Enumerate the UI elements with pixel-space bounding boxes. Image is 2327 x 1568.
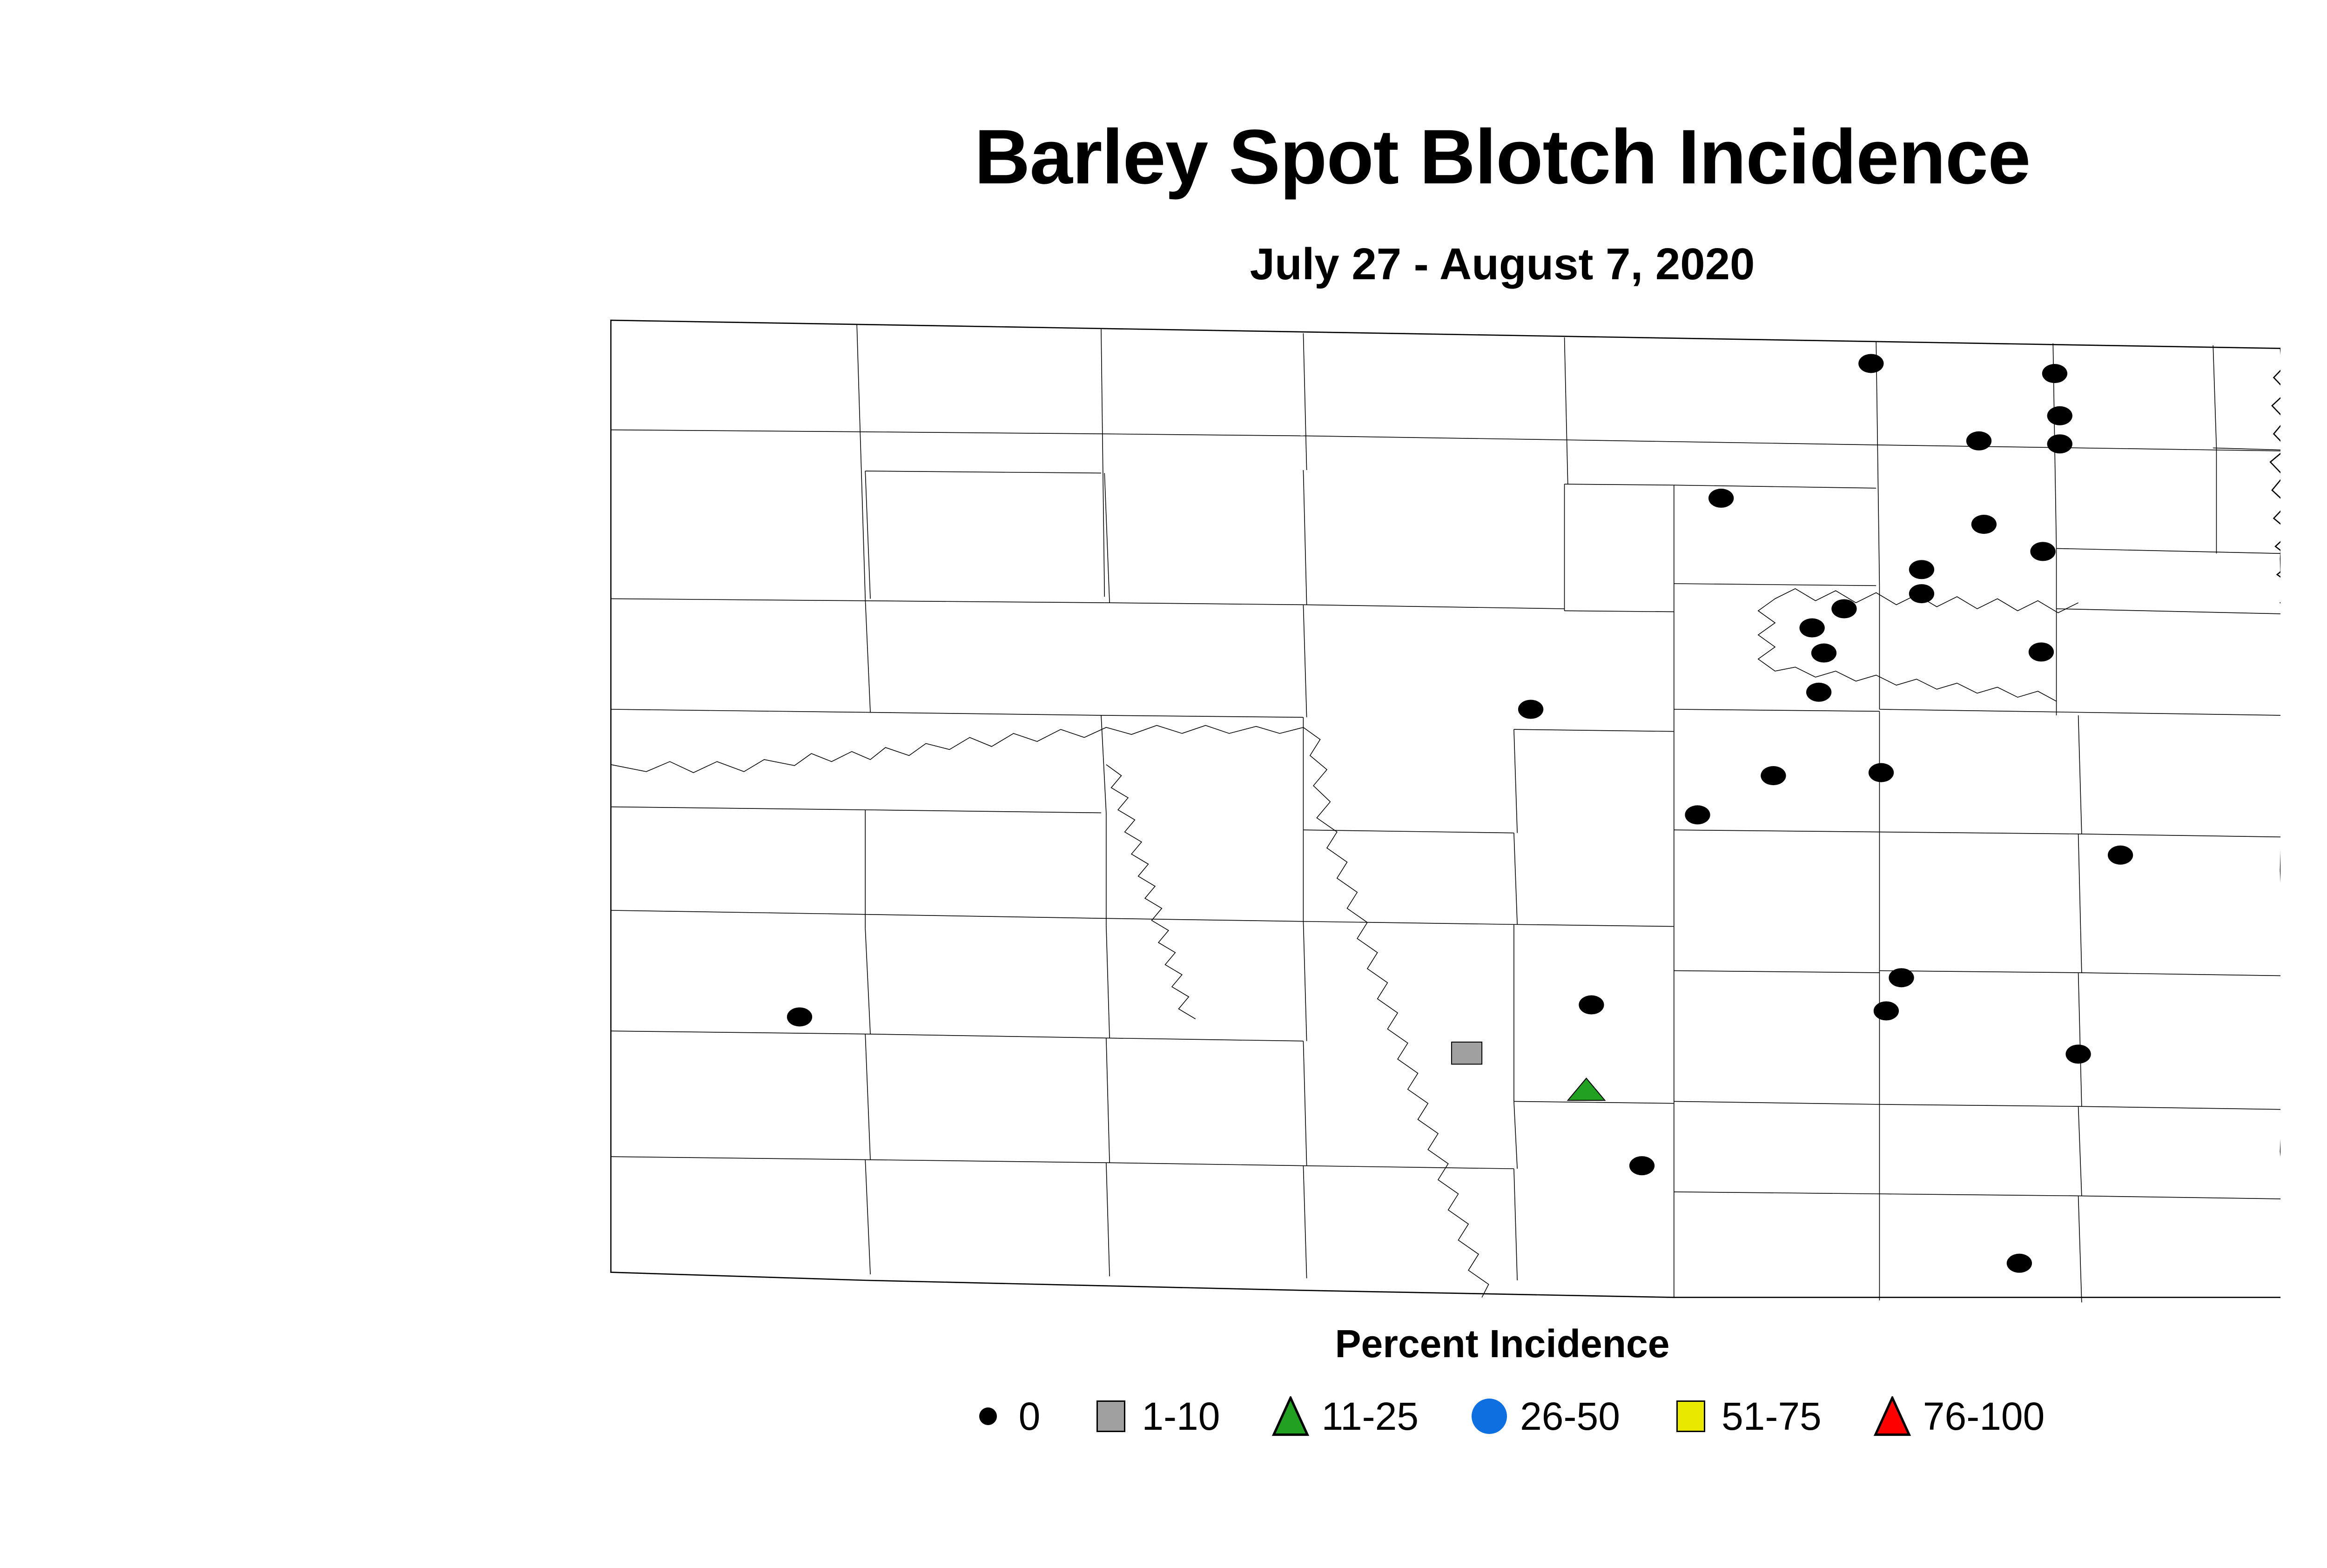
map-marker-0[interactable] — [1889, 968, 1914, 987]
map-marker-0[interactable] — [1685, 805, 1710, 824]
map-marker-0[interactable] — [1966, 431, 1991, 451]
legend-entry-26-50[interactable]: 26-50 — [1461, 1388, 1620, 1444]
map-marker-0[interactable] — [1874, 1001, 1899, 1020]
legend-entry-51-75[interactable]: 51-75 — [1663, 1388, 1822, 1444]
legend-title: Percent Incidence — [0, 1324, 2327, 1363]
map-marker-0[interactable] — [1708, 489, 1734, 508]
legend-symbol-dot — [960, 1388, 1016, 1444]
map-marker-0[interactable] — [1579, 996, 1604, 1015]
legend-dot-icon — [979, 1407, 997, 1425]
map-marker-0[interactable] — [1799, 619, 1824, 638]
map-marker-0[interactable] — [1971, 515, 1997, 534]
map-marker-0[interactable] — [2065, 1044, 2091, 1063]
map-marker-11-25[interactable] — [1568, 1078, 1605, 1101]
legend-triangle-icon — [1271, 1396, 1311, 1436]
legend-entry-0[interactable]: 0 — [960, 1388, 1041, 1444]
legend-label: 26-50 — [1520, 1397, 1620, 1436]
map-marker-0[interactable] — [2108, 846, 2133, 865]
map-marker-0[interactable] — [2007, 1254, 2032, 1273]
map-marker-0[interactable] — [1629, 1156, 1654, 1175]
map-marker-1-10[interactable] — [1452, 1042, 1482, 1064]
legend-label: 1-10 — [1142, 1397, 1220, 1436]
map-marker-0[interactable] — [2047, 434, 2072, 453]
map-svg — [596, 307, 2280, 1312]
map-marker-0[interactable] — [1909, 560, 1934, 579]
red-river-eastern-border — [2270, 349, 2280, 1298]
map-marker-0[interactable] — [1806, 683, 1831, 702]
legend-label: 0 — [1019, 1397, 1041, 1436]
legend-symbol-triangle — [1263, 1388, 1318, 1444]
legend-square-icon — [1096, 1400, 1125, 1432]
legend-triangle-icon — [1872, 1396, 1912, 1436]
map-legend: Percent Incidence 01-1011-2526-5051-7576… — [0, 1324, 2327, 1520]
legend-entry-1-10[interactable]: 1-10 — [1083, 1388, 1220, 1444]
missouri-river-and-lakes — [611, 589, 2078, 1298]
map-marker-0[interactable] — [1858, 354, 1883, 373]
figure-canvas: Barley Spot Blotch Incidence July 27 - A… — [0, 0, 2327, 1568]
map-marker-0[interactable] — [1869, 763, 1894, 782]
page-subtitle: July 27 - August 7, 2020 — [0, 242, 2327, 287]
legend-circle-icon — [1472, 1399, 1507, 1434]
map-marker-0[interactable] — [1761, 766, 1786, 785]
map-marker-0[interactable] — [2047, 406, 2072, 425]
map-marker-0[interactable] — [2029, 642, 2054, 661]
legend-label: 51-75 — [1722, 1397, 1822, 1436]
legend-items: 01-1011-2526-5051-7576-100 — [0, 1388, 2327, 1444]
legend-symbol-triangle — [1864, 1388, 1920, 1444]
legend-entry-76-100[interactable]: 76-100 — [1864, 1388, 2045, 1444]
map-marker-0[interactable] — [2030, 542, 2055, 561]
page-title: Barley Spot Blotch Incidence — [0, 119, 2327, 196]
legend-symbol-square — [1083, 1388, 1139, 1444]
map-marker-0[interactable] — [1811, 644, 1836, 663]
legend-label: 11-25 — [1321, 1397, 1419, 1436]
data-markers — [787, 354, 2133, 1272]
map-marker-0[interactable] — [1518, 700, 1543, 719]
legend-entry-11-25[interactable]: 11-25 — [1263, 1388, 1419, 1444]
legend-symbol-circle — [1461, 1388, 1517, 1444]
map-marker-0[interactable] — [787, 1007, 812, 1026]
map-marker-0[interactable] — [1909, 584, 1934, 603]
north-dakota-county-map[interactable] — [596, 307, 2280, 1312]
map-marker-0[interactable] — [1831, 599, 1856, 618]
legend-symbol-square — [1663, 1388, 1719, 1444]
county-boundaries — [611, 320, 2280, 1302]
legend-label: 76-100 — [1923, 1397, 2045, 1436]
legend-square-icon — [1676, 1400, 1705, 1432]
map-marker-0[interactable] — [2042, 364, 2067, 383]
